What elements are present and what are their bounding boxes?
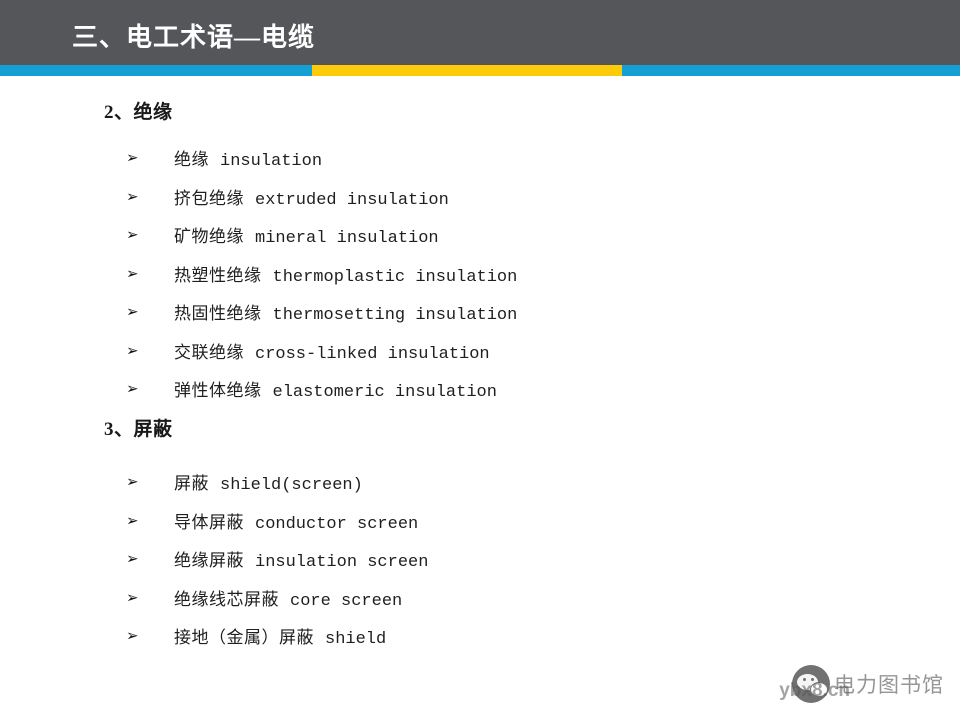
term-english: extruded insulation: [255, 191, 449, 210]
section-heading-shielding: 3、屏蔽: [104, 414, 173, 441]
arrow-bullet-icon: ➢: [126, 513, 146, 528]
arrow-bullet-icon: ➢: [126, 189, 146, 204]
bullet-list-shielding: ➢ 屏蔽 shield(screen) ➢ 导体屏蔽 conductor scr…: [0, 463, 960, 656]
list-item: ➢ 接地（金属）屏蔽 shield: [0, 617, 960, 656]
accent-segment-right: [622, 65, 960, 76]
list-item-text: 挤包绝缘 extruded insulation: [174, 184, 449, 210]
list-item: ➢ 绝缘屏蔽 insulation screen: [0, 540, 960, 579]
list-item: ➢ 绝缘线芯屏蔽 core screen: [0, 579, 960, 618]
list-item-text: 屏蔽 shield(screen): [174, 469, 363, 495]
term-chinese: 热塑性绝缘: [174, 266, 262, 285]
arrow-bullet-icon: ➢: [126, 343, 146, 358]
term-chinese: 弹性体绝缘: [174, 381, 262, 400]
arrow-bullet-icon: ➢: [126, 552, 146, 567]
page-title: 三、电工术语—电缆: [72, 17, 315, 54]
list-item: ➢ 交联绝缘 cross-linked insulation: [0, 332, 960, 371]
bullet-list-insulation: ➢ 绝缘 insulation ➢ 挤包绝缘 extruded insulati…: [0, 139, 960, 409]
term-english: conductor screen: [255, 515, 418, 534]
term-english: thermoplastic insulation: [273, 268, 518, 287]
term-chinese: 挤包绝缘: [174, 189, 244, 208]
slide-header: 三、电工术语—电缆: [0, 0, 960, 65]
list-item: ➢ 绝缘 insulation: [0, 139, 960, 178]
list-item-text: 热塑性绝缘 thermoplastic insulation: [174, 261, 517, 287]
term-chinese: 屏蔽: [174, 474, 209, 493]
list-item-text: 矿物绝缘 mineral insulation: [174, 222, 439, 248]
list-item-text: 接地（金属）屏蔽 shield: [174, 623, 386, 649]
term-english: elastomeric insulation: [273, 383, 497, 402]
list-item: ➢ 热固性绝缘 thermosetting insulation: [0, 293, 960, 332]
list-item: ➢ 热塑性绝缘 thermoplastic insulation: [0, 255, 960, 294]
term-english: core screen: [290, 592, 402, 611]
list-item-text: 绝缘线芯屏蔽 core screen: [174, 585, 402, 611]
arrow-bullet-icon: ➢: [126, 228, 146, 243]
section-heading-insulation: 2、绝缘: [104, 97, 173, 124]
list-item-text: 交联绝缘 cross-linked insulation: [174, 338, 490, 364]
term-chinese: 接地（金属）屏蔽: [174, 628, 314, 647]
term-chinese: 热固性绝缘: [174, 304, 262, 323]
arrow-bullet-icon: ➢: [126, 266, 146, 281]
term-chinese: 导体屏蔽: [174, 513, 244, 532]
slide-content: 2、绝缘 ➢ 绝缘 insulation ➢ 挤包绝缘 extruded ins…: [0, 76, 960, 720]
arrow-bullet-icon: ➢: [126, 151, 146, 166]
term-english: shield(screen): [220, 476, 363, 495]
brand-name-label: 电力图书馆: [834, 669, 944, 699]
list-item: ➢ 挤包绝缘 extruded insulation: [0, 178, 960, 217]
term-english: mineral insulation: [255, 229, 439, 248]
term-chinese: 绝缘屏蔽: [174, 551, 244, 570]
term-chinese: 绝缘: [174, 150, 209, 169]
term-english: thermosetting insulation: [273, 306, 518, 325]
term-english: insulation screen: [255, 553, 428, 572]
accent-rule: [0, 65, 960, 76]
accent-segment-left: [0, 65, 312, 76]
term-chinese: 矿物绝缘: [174, 227, 244, 246]
accent-segment-middle: [312, 65, 622, 76]
list-item: ➢ 弹性体绝缘 elastomeric insulation: [0, 370, 960, 409]
term-chinese: 绝缘线芯屏蔽: [174, 590, 279, 609]
arrow-bullet-icon: ➢: [126, 590, 146, 605]
list-item-text: 弹性体绝缘 elastomeric insulation: [174, 376, 497, 402]
slide: 三、电工术语—电缆 2、绝缘 ➢ 绝缘 insulation ➢ 挤包绝缘 ex…: [0, 0, 960, 720]
term-english: insulation: [220, 152, 322, 171]
list-item-text: 导体屏蔽 conductor screen: [174, 508, 418, 534]
arrow-bullet-icon: ➢: [126, 629, 146, 644]
list-item: ➢ 导体屏蔽 conductor screen: [0, 502, 960, 541]
list-item-text: 热固性绝缘 thermosetting insulation: [174, 299, 517, 325]
list-item-text: 绝缘 insulation: [174, 145, 322, 171]
list-item: ➢ 矿物绝缘 mineral insulation: [0, 216, 960, 255]
term-english: shield: [325, 630, 386, 649]
arrow-bullet-icon: ➢: [126, 382, 146, 397]
term-chinese: 交联绝缘: [174, 343, 244, 362]
arrow-bullet-icon: ➢: [126, 475, 146, 490]
arrow-bullet-icon: ➢: [126, 305, 146, 320]
term-english: cross-linked insulation: [255, 345, 490, 364]
site-watermark: ybx8.cn: [779, 680, 850, 702]
list-item-text: 绝缘屏蔽 insulation screen: [174, 546, 428, 572]
list-item: ➢ 屏蔽 shield(screen): [0, 463, 960, 502]
